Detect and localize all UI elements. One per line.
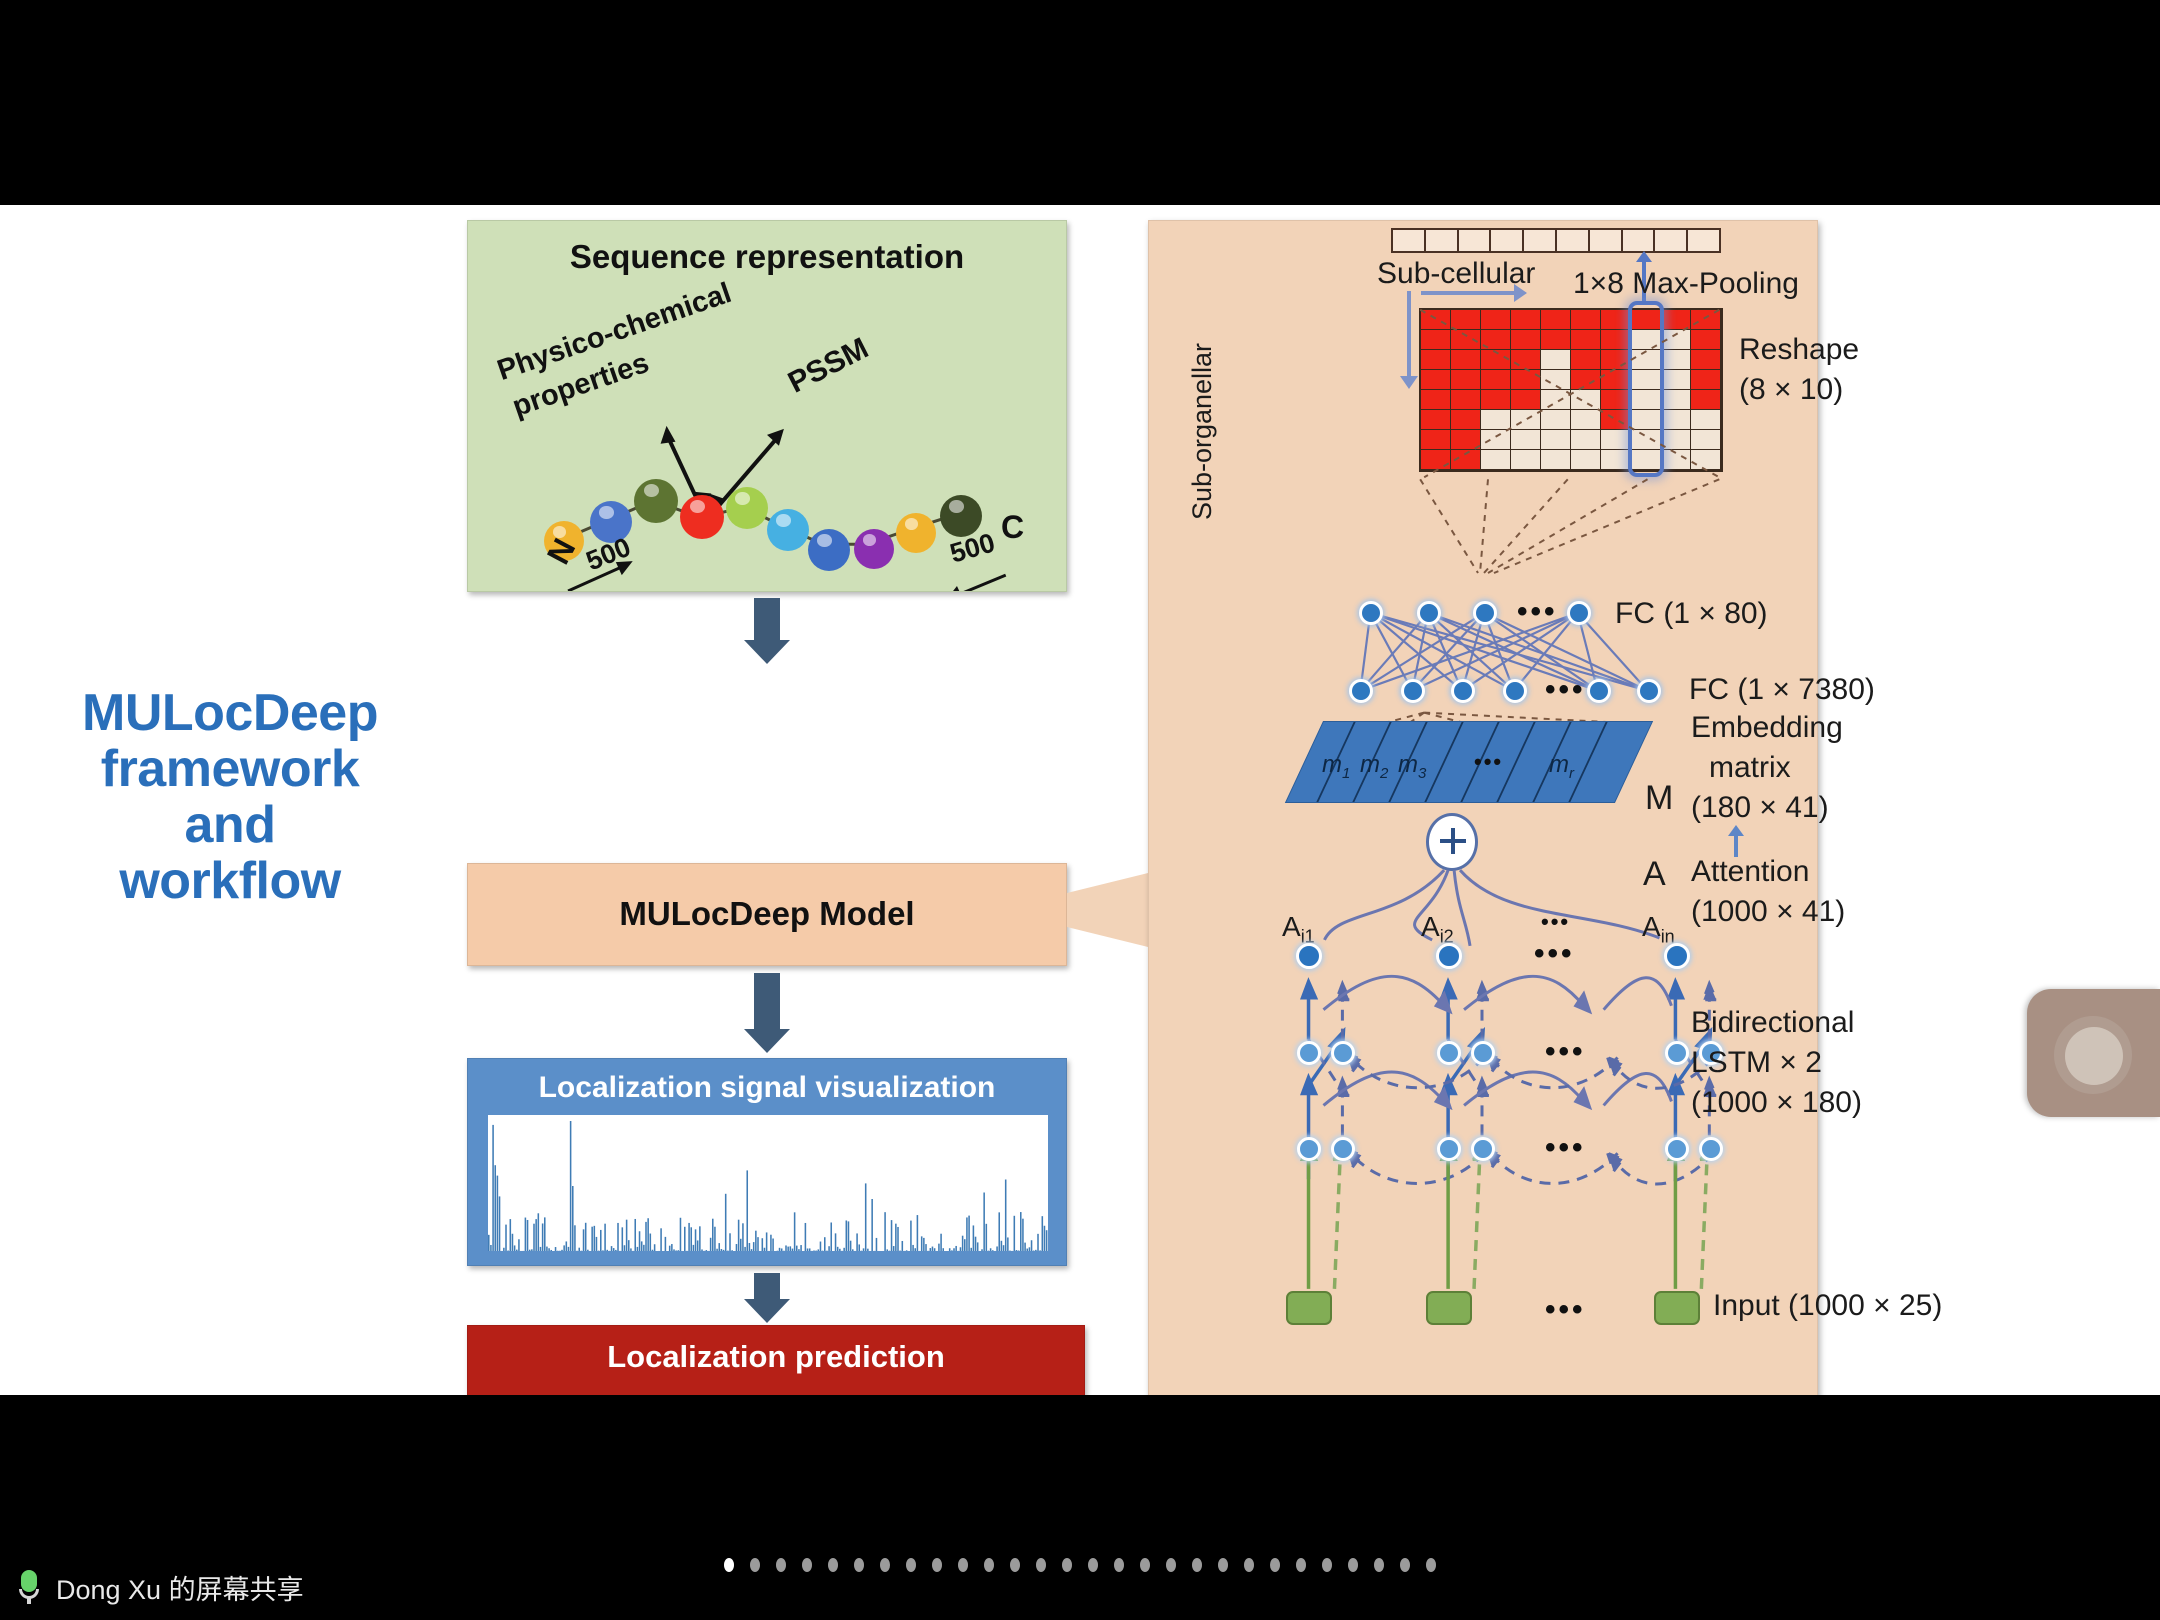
reshape-grid-cell xyxy=(1481,370,1511,390)
fc1-node xyxy=(1567,601,1591,625)
reshape-grid-cell xyxy=(1481,330,1511,350)
reshape-grid-cell xyxy=(1601,350,1631,370)
lstm-row-ellipsis: ••• xyxy=(1545,1035,1586,1069)
reshape-grid-cell xyxy=(1511,450,1541,470)
residue-bead xyxy=(726,487,768,529)
reshape-grid-cell xyxy=(1541,330,1571,350)
lstm-label-2: LSTM × 2 xyxy=(1691,1046,1822,1080)
attention-row-ellipsis: ••• xyxy=(1534,937,1575,971)
residue-bead xyxy=(808,529,850,571)
pssm-label: PSSM xyxy=(783,332,874,401)
reshape-grid-cell xyxy=(1661,350,1691,370)
attention-symbol: A xyxy=(1643,855,1666,894)
sub-cellular-axis-label: Sub-cellular xyxy=(1377,257,1535,291)
reshape-grid-cell xyxy=(1691,430,1721,450)
reshape-grid-cell xyxy=(1421,370,1451,390)
pool-strip-cell xyxy=(1491,230,1524,251)
reshape-grid-cell xyxy=(1691,350,1721,370)
residue-bead xyxy=(680,495,724,539)
reshape-grid-cell xyxy=(1451,310,1481,330)
fc2-node xyxy=(1587,679,1611,703)
max-pooling-output-strip xyxy=(1391,228,1721,253)
attention-to-embedding-arrowhead xyxy=(1728,825,1744,836)
lstm-node xyxy=(1471,1041,1495,1065)
lstm-node xyxy=(1665,1137,1689,1161)
residue-bead xyxy=(634,479,678,523)
title-line-2: framework xyxy=(30,741,430,797)
reshape-grid-cell xyxy=(1451,370,1481,390)
max-pooling-arrow-head xyxy=(1636,251,1652,262)
title-line-1: MULocDeep xyxy=(30,685,430,741)
sub-organellar-axis-arrowhead xyxy=(1400,376,1418,389)
reshape-grid-cell xyxy=(1541,430,1571,450)
reshape-grid-cell xyxy=(1601,410,1631,430)
reshape-grid-cell xyxy=(1541,450,1571,470)
reshape-grid-cell xyxy=(1511,350,1541,370)
attention-node-label-ain: Ain xyxy=(1642,911,1675,948)
input-row-ellipsis: ••• xyxy=(1545,1293,1586,1327)
reshape-grid-cell xyxy=(1601,430,1631,450)
reshape-grid-cell xyxy=(1601,370,1631,390)
reshape-grid-cell xyxy=(1421,430,1451,450)
reshape-grid-cell xyxy=(1481,410,1511,430)
pool-strip-cell xyxy=(1557,230,1590,251)
lstm-node xyxy=(1331,1137,1355,1161)
max-pooling-window-highlight xyxy=(1628,301,1664,477)
reshape-grid-cell xyxy=(1691,410,1721,430)
embedding-ellipsis: ••• xyxy=(1474,749,1503,775)
pool-strip-cell xyxy=(1688,230,1719,251)
sub-cellular-axis-arrow xyxy=(1421,291,1517,295)
fc1-node xyxy=(1417,601,1441,625)
reshape-grid-cell xyxy=(1601,330,1631,350)
reshape-grid-cell xyxy=(1661,430,1691,450)
reshape-grid xyxy=(1419,308,1723,472)
sub-cellular-axis-arrowhead xyxy=(1514,284,1527,302)
reshape-grid-cell xyxy=(1691,330,1721,350)
fc1-node xyxy=(1473,601,1497,625)
visualization-heading: Localization signal visualization xyxy=(468,1071,1066,1105)
title-line-4: workflow xyxy=(30,853,430,909)
embedding-matrix-label-1: Embedding xyxy=(1691,711,1843,745)
attention-sum-node xyxy=(1426,813,1478,871)
fc2-ellipsis: ••• xyxy=(1545,673,1586,707)
pool-strip-cell xyxy=(1459,230,1492,251)
reshape-grid-cell xyxy=(1511,370,1541,390)
fc2-label: FC (1 × 7380) xyxy=(1689,673,1875,707)
reshape-grid-cell xyxy=(1571,390,1601,410)
pool-strip-cell xyxy=(1524,230,1557,251)
sequence-representation-box: Sequence representation Physico-chemical… xyxy=(467,220,1067,592)
embedding-cell-m3: m3 xyxy=(1398,751,1426,782)
reshape-grid-cell xyxy=(1511,310,1541,330)
reshape-grid-cell xyxy=(1451,350,1481,370)
reshape-grid-cell xyxy=(1541,350,1571,370)
lstm-node xyxy=(1297,1041,1321,1065)
lstm-label-1: Bidirectional xyxy=(1691,1006,1854,1040)
residue-bead xyxy=(854,529,894,569)
mulocdeep-model-box: MULocDeep Model xyxy=(467,863,1067,966)
lstm-node xyxy=(1437,1041,1461,1065)
reshape-grid-cell xyxy=(1661,390,1691,410)
attention-label: Attention xyxy=(1691,855,1809,889)
left-length-label: 500 xyxy=(582,532,635,578)
attention-row-ellipsis-small: ••• xyxy=(1541,909,1570,935)
reshape-grid-cell xyxy=(1601,450,1631,470)
reshape-grid-cell xyxy=(1511,430,1541,450)
reshape-dims-label: (8 × 10) xyxy=(1739,373,1843,407)
reshape-grid-cell xyxy=(1421,310,1451,330)
reshape-grid-cell xyxy=(1421,350,1451,370)
reshape-grid-cell xyxy=(1541,390,1571,410)
reshape-grid-cell xyxy=(1481,390,1511,410)
share-status-text: Dong Xu 的屏幕共享 xyxy=(56,1568,304,1607)
reshape-grid-cell xyxy=(1511,410,1541,430)
signal-chart xyxy=(488,1115,1048,1251)
reshape-grid-cell xyxy=(1571,370,1601,390)
reshape-grid-cell xyxy=(1421,390,1451,410)
reshape-grid-cell xyxy=(1511,390,1541,410)
lstm-node xyxy=(1699,1137,1723,1161)
embedding-matrix-symbol: M xyxy=(1645,779,1673,818)
sub-organellar-axis-arrow xyxy=(1407,291,1411,379)
reshape-grid-cell xyxy=(1661,310,1691,330)
pool-strip-cell xyxy=(1623,230,1656,251)
lstm-dims: (1000 × 180) xyxy=(1691,1086,1862,1120)
input-token-box xyxy=(1286,1291,1332,1325)
reshape-grid-cell xyxy=(1511,330,1541,350)
flow-arrow-3 xyxy=(744,1273,790,1323)
embedding-cell-mr: mr xyxy=(1549,751,1574,782)
lstm-node xyxy=(1665,1041,1689,1065)
reshape-grid-cell xyxy=(1541,370,1571,390)
embedding-matrix-dims: (180 × 41) xyxy=(1691,791,1829,825)
reshape-grid-cell xyxy=(1571,350,1601,370)
prediction-heading: Localization prediction xyxy=(468,1339,1084,1375)
shared-slide-canvas: MULocDeep framework and workflow Sequenc… xyxy=(0,205,2160,1395)
page-title: MULocDeep framework and workflow xyxy=(30,685,430,910)
title-line-3: and xyxy=(30,797,430,853)
fc1-node xyxy=(1359,601,1383,625)
fc2-node xyxy=(1401,679,1425,703)
reshape-grid-cell xyxy=(1571,410,1601,430)
reshape-grid-cell xyxy=(1451,330,1481,350)
attention-node xyxy=(1664,943,1690,969)
flow-arrow-2 xyxy=(744,973,790,1053)
mulocdeep-model-heading: MULocDeep Model xyxy=(468,895,1066,933)
residue-bead xyxy=(767,509,809,551)
reshape-grid-cell xyxy=(1601,310,1631,330)
microphone-icon[interactable] xyxy=(16,1570,42,1604)
reshape-grid-cell xyxy=(1481,450,1511,470)
localization-signal-visualization-box: Localization signal visualization xyxy=(467,1058,1067,1266)
embedding-matrix-label-2: matrix xyxy=(1709,751,1791,785)
reshape-grid-cell xyxy=(1691,310,1721,330)
fc2-node xyxy=(1451,679,1475,703)
flow-arrow-1 xyxy=(744,598,790,664)
input-token-box xyxy=(1654,1291,1700,1325)
lstm-node xyxy=(1297,1137,1321,1161)
architecture-panel: 1×8 Max-Pooling Sub-cellular Sub-organel… xyxy=(1148,220,1818,1395)
pool-strip-cell xyxy=(1426,230,1459,251)
sub-organellar-axis-label: Sub-organellar xyxy=(1187,343,1218,520)
reshape-grid-cell xyxy=(1661,330,1691,350)
reshape-grid-cell xyxy=(1601,390,1631,410)
self-view-camera-overlay[interactable] xyxy=(2027,989,2160,1117)
reshape-grid-cell xyxy=(1571,330,1601,350)
fc2-node xyxy=(1349,679,1373,703)
reshape-grid-cell xyxy=(1481,310,1511,330)
localization-prediction-box: Localization prediction xyxy=(467,1325,1085,1395)
reshape-grid-cell xyxy=(1661,450,1691,470)
reshape-grid-cell xyxy=(1571,310,1601,330)
lstm-node xyxy=(1437,1137,1461,1161)
embedding-cell-m1: m1 xyxy=(1322,751,1350,782)
reshape-grid-cell xyxy=(1571,450,1601,470)
reshape-grid-cell xyxy=(1451,430,1481,450)
reshape-grid-cell xyxy=(1661,370,1691,390)
reshape-grid-cell xyxy=(1451,410,1481,430)
reshape-grid-cell xyxy=(1421,450,1451,470)
reshape-grid-cell xyxy=(1541,410,1571,430)
max-pooling-label: 1×8 Max-Pooling xyxy=(1573,267,1799,301)
input-label: Input (1000 × 25) xyxy=(1713,1289,1942,1323)
screen-share-status-bar: Dong Xu 的屏幕共享 xyxy=(0,1554,2160,1620)
reshape-label: Reshape xyxy=(1739,333,1859,367)
reshape-grid-cell xyxy=(1661,410,1691,430)
input-token-box xyxy=(1426,1291,1472,1325)
reshape-grid-cell xyxy=(1421,410,1451,430)
reshape-grid-cell xyxy=(1691,450,1721,470)
residue-bead xyxy=(896,513,936,553)
attention-node xyxy=(1296,943,1322,969)
sequence-representation-heading: Sequence representation xyxy=(468,238,1066,276)
c-terminus-label: C xyxy=(1001,509,1024,546)
reshape-grid-cell xyxy=(1451,450,1481,470)
pool-strip-cell xyxy=(1655,230,1688,251)
attention-to-embedding-arrow xyxy=(1734,833,1738,857)
reshape-grid-cell xyxy=(1541,310,1571,330)
pool-strip-cell xyxy=(1590,230,1623,251)
reshape-grid-cell xyxy=(1421,330,1451,350)
reshape-grid-cell xyxy=(1571,430,1601,450)
fc1-label: FC (1 × 80) xyxy=(1615,597,1768,631)
fc2-node xyxy=(1503,679,1527,703)
lstm-row-ellipsis: ••• xyxy=(1545,1131,1586,1165)
camera-lens-icon xyxy=(2065,1027,2123,1085)
reshape-grid-cell xyxy=(1481,350,1511,370)
embedding-cell-m2: m2 xyxy=(1360,751,1388,782)
reshape-grid-cell xyxy=(1691,370,1721,390)
reshape-grid-cell xyxy=(1691,390,1721,410)
lstm-node xyxy=(1331,1041,1355,1065)
reshape-grid-cell xyxy=(1481,430,1511,450)
pool-strip-cell xyxy=(1393,230,1426,251)
fc2-node xyxy=(1637,679,1661,703)
fc1-ellipsis: ••• xyxy=(1517,595,1558,629)
attention-dims: (1000 × 41) xyxy=(1691,895,1845,929)
attention-node xyxy=(1436,943,1462,969)
reshape-grid-cell xyxy=(1451,390,1481,410)
screen-root: MULocDeep framework and workflow Sequenc… xyxy=(0,0,2160,1620)
lstm-node xyxy=(1471,1137,1495,1161)
